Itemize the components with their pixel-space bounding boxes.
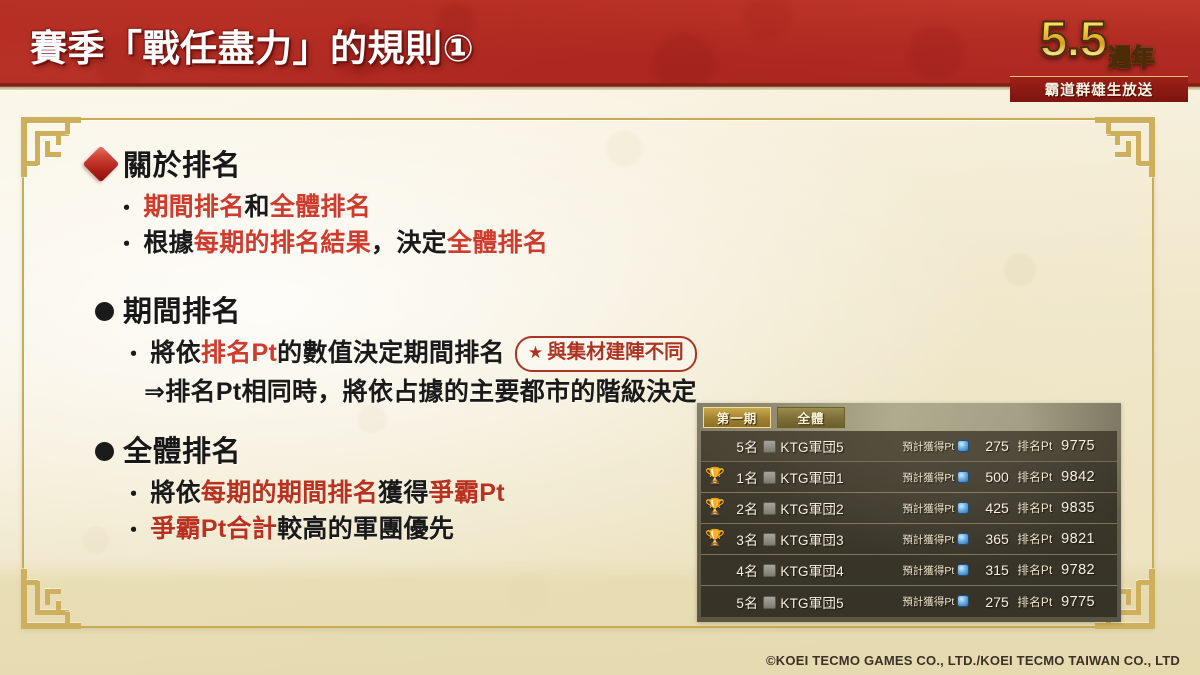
slide-root: 賽季「戰任盡力」的規則① 5.5 週年 霸道群雄生放送 關於排名・期間排名和全 (0, 0, 1200, 675)
section-lines: ・期間排名和全體排名・根據每期的排名結果，決定全體排名 (88, 190, 548, 261)
guild-emblem-cell (758, 531, 780, 547)
diamond-bullet-icon (83, 146, 120, 183)
expected-pt-value: 365 (973, 531, 1008, 547)
expected-pt-value: 275 (973, 594, 1008, 610)
rank-pt-value: 9782 (1061, 562, 1117, 578)
gem-icon (957, 533, 969, 545)
bullet-line: ・將依每期的期間排名獲得爭霸Pt (123, 476, 505, 512)
trophy-icon: 🏆 (701, 500, 730, 516)
gem-cell (954, 501, 973, 516)
copyright-footer: ©KOEI TECMO GAMES CO., LTD./KOEI TECMO T… (766, 653, 1180, 668)
guild-emblem-icon (763, 502, 776, 515)
line-text-span: 將依 (150, 479, 201, 507)
bullet-line: ・期間排名和全體排名 (116, 190, 548, 226)
rank-pt-value: 9842 (1061, 469, 1117, 485)
line-tick-mark: ・ (123, 480, 144, 510)
rank-value: 1名 (730, 467, 759, 487)
line-text-span: 較高的軍團優先 (277, 515, 454, 543)
gem-cell (954, 439, 973, 454)
ranking-row[interactable]: 🏆2名KTG軍団2預計獲得Pt425排名Pt9835 (701, 493, 1117, 524)
ranking-row[interactable]: 🏆3名KTG軍団3預計獲得Pt365排名Pt9821 (701, 524, 1117, 555)
rank-pt-label: 排名Pt (1009, 469, 1061, 485)
section-lines: ・將依每期的期間排名獲得爭霸Pt・爭霸Pt合計較高的軍團優先 (95, 476, 505, 547)
guild-name: KTG軍団2 (780, 498, 883, 518)
expected-pt-value: 500 (973, 469, 1008, 485)
expected-pt-value: 425 (973, 500, 1008, 516)
guild-emblem-cell (758, 594, 780, 610)
logo-anniversary-text: 週年 (1108, 46, 1154, 69)
ranking-row[interactable]: 5名KTG軍団5預計獲得Pt275排名Pt9775 (701, 586, 1117, 617)
logo-subtitle: 霸道群雄生放送 (1010, 76, 1188, 102)
section-heading-row: 關於排名 (88, 142, 548, 184)
trophy-icon: 🏆 (701, 531, 730, 547)
section-heading: 全體排名 (123, 428, 241, 470)
expected-pt-label: 預計獲得Pt (883, 470, 954, 485)
line-tick-mark: ・ (116, 194, 137, 224)
line-text-span: 爭霸Pt (429, 479, 505, 507)
line-text-span: 排名Pt (201, 339, 277, 367)
guild-emblem-cell (758, 469, 780, 485)
bullet-line: ⇒排名Pt相同時，將依占據的主要都市的階級決定 (123, 375, 697, 411)
rank-value: 4名 (730, 560, 759, 580)
guild-name: KTG軍団5 (780, 436, 883, 456)
ranking-row[interactable]: 🏆1名KTG軍団1預計獲得Pt500排名Pt9842 (701, 462, 1117, 493)
expected-pt-value: 275 (973, 438, 1008, 454)
ranking-row[interactable]: 4名KTG軍団4預計獲得Pt315排名Pt9782 (701, 555, 1117, 586)
bullet-line: ・爭霸Pt合計較高的軍團優先 (123, 512, 505, 548)
page-title: 賽季「戰任盡力」的規則① (30, 18, 474, 72)
guild-emblem-icon (763, 440, 776, 453)
guild-emblem-cell (758, 500, 780, 516)
bullet-line: ・將依排名Pt的數值決定期間排名★與集材建陣不同 (123, 336, 697, 375)
rank-pt-label: 排名Pt (1009, 438, 1061, 454)
guild-emblem-icon (763, 564, 776, 577)
gem-icon (957, 564, 969, 576)
gem-cell (954, 532, 973, 547)
note-callout-text: 與集材建陣不同 (547, 339, 684, 367)
rank-value: 3名 (730, 529, 759, 549)
rank-pt-value: 9835 (1061, 500, 1117, 516)
section-lines: ・將依排名Pt的數值決定期間排名★與集材建陣不同⇒排名Pt相同時，將依占據的主要… (95, 336, 697, 410)
rank-pt-value: 9775 (1061, 438, 1117, 454)
line-text-span: 全體排名 (447, 229, 548, 257)
rank-value: 2名 (730, 498, 759, 518)
bullet-line: ・根據每期的排名結果，決定全體排名 (116, 226, 548, 262)
trophy-silver-icon: 🏆 (705, 500, 725, 516)
gem-cell (954, 563, 973, 578)
line-text: 將依排名Pt的數值決定期間排名 (150, 336, 505, 372)
ranking-row[interactable]: 5名KTG軍団5預計獲得Pt275排名Pt9775 (701, 431, 1117, 462)
expected-pt-label: 預計獲得Pt (883, 594, 954, 609)
star-icon: ★ (528, 341, 543, 365)
logo-number: 5.5 (1040, 14, 1107, 64)
section-heading-row: 全體排名 (95, 428, 505, 470)
guild-name: KTG軍団4 (780, 560, 883, 580)
line-tick-mark: ・ (116, 230, 137, 260)
gem-icon (957, 471, 969, 483)
trophy-icon: 🏆 (701, 469, 730, 485)
line-text: 期間排名和全體排名 (143, 190, 371, 226)
rank-value: 5名 (730, 436, 759, 456)
ranking-tabs[interactable]: 第一期全體 (703, 407, 845, 428)
line-text-span: 每期的期間排名 (201, 479, 378, 507)
section-overall-ranking: 全體排名・將依每期的期間排名獲得爭霸Pt・爭霸Pt合計較高的軍團優先 (95, 428, 505, 547)
line-text-span: 和 (245, 193, 270, 221)
expected-pt-label: 預計獲得Pt (883, 563, 954, 578)
rank-pt-label: 排名Pt (1009, 531, 1061, 547)
rank-pt-label: 排名Pt (1009, 500, 1061, 516)
line-tick-mark: ・ (123, 340, 144, 370)
guild-emblem-icon (763, 471, 776, 484)
guild-name: KTG軍団5 (780, 592, 883, 612)
line-text: 將依每期的期間排名獲得爭霸Pt (150, 476, 505, 512)
ranking-screenshot: 第一期全體 5名KTG軍団5預計獲得Pt275排名Pt9775🏆1名KTG軍団1… (697, 403, 1121, 622)
section-heading: 關於排名 (123, 142, 241, 184)
trophy-gold-icon: 🏆 (705, 469, 725, 485)
guild-name: KTG軍団3 (780, 529, 883, 549)
ranking-tab-2[interactable]: 全體 (777, 407, 845, 428)
line-text-span: 根據 (143, 229, 194, 257)
line-tick-mark: ・ (123, 516, 144, 546)
line-text-span: 期間排名 (143, 193, 244, 221)
section-heading-row: 期間排名 (95, 288, 697, 330)
trophy-bronze-icon: 🏆 (705, 531, 725, 547)
logo-main: 5.5 週年 (1002, 4, 1192, 74)
line-text-span: 的數值決定期間排名 (277, 339, 505, 367)
rank-pt-value: 9775 (1061, 594, 1117, 610)
guild-emblem-icon (763, 533, 776, 546)
rank-pt-label: 排名Pt (1009, 594, 1061, 610)
rank-value: 5名 (730, 592, 759, 612)
guild-name: KTG軍団1 (780, 467, 883, 487)
gem-cell (954, 470, 973, 485)
guild-emblem-cell (758, 438, 780, 454)
expected-pt-value: 315 (973, 562, 1008, 578)
ranking-rows: 5名KTG軍団5預計獲得Pt275排名Pt9775🏆1名KTG軍団1預計獲得Pt… (701, 431, 1117, 617)
circle-bullet-icon (95, 442, 114, 461)
gem-cell (954, 594, 973, 609)
gem-icon (957, 595, 969, 607)
section-about-ranking: 關於排名・期間排名和全體排名・根據每期的排名結果，決定全體排名 (88, 142, 548, 261)
rank-pt-value: 9821 (1061, 531, 1117, 547)
circle-bullet-icon (95, 302, 114, 321)
line-text: 爭霸Pt合計較高的軍團優先 (150, 512, 454, 548)
expected-pt-label: 預計獲得Pt (883, 532, 954, 547)
guild-emblem-cell (758, 562, 780, 578)
anniversary-logo: 5.5 週年 霸道群雄生放送 (1002, 0, 1192, 110)
gem-icon (957, 502, 969, 514)
expected-pt-label: 預計獲得Pt (883, 439, 954, 454)
section-heading: 期間排名 (123, 288, 241, 330)
line-text-span: 每期的排名結果 (194, 229, 371, 257)
line-text-span: ，決定 (371, 229, 447, 257)
line-text: 根據每期的排名結果，決定全體排名 (143, 226, 548, 262)
section-period-ranking: 期間排名・將依排名Pt的數值決定期間排名★與集材建陣不同⇒排名Pt相同時，將依占… (95, 288, 697, 410)
expected-pt-label: 預計獲得Pt (883, 501, 954, 516)
line-text-span: 將依 (150, 339, 201, 367)
gem-icon (957, 440, 969, 452)
line-text: ⇒排名Pt相同時，將依占據的主要都市的階級決定 (144, 375, 697, 411)
note-callout: ★與集材建陣不同 (515, 336, 697, 372)
ranking-tab-1[interactable]: 第一期 (703, 407, 771, 428)
line-text-span: 爭霸Pt合計 (150, 515, 277, 543)
rank-pt-label: 排名Pt (1009, 562, 1061, 578)
line-text-span: 獲得 (378, 479, 429, 507)
line-text-span: ⇒排名Pt相同時，將依占據的主要都市的階級決定 (144, 378, 697, 406)
line-text-span: 全體排名 (270, 193, 371, 221)
guild-emblem-icon (763, 596, 776, 609)
